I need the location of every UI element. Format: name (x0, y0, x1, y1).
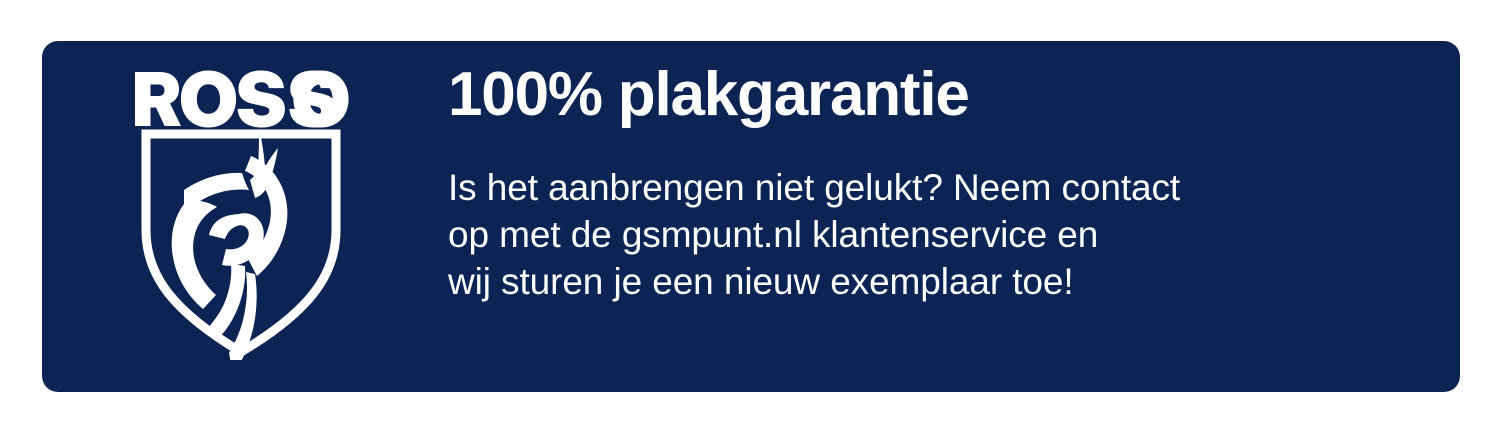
rosso-wordmark-icon (133, 70, 349, 128)
banner-stage: 100% plakgarantie Is het aanbrengen niet… (0, 0, 1500, 433)
body-copy-line: op met de gsmpunt.nl klantenservice en (448, 211, 1408, 258)
body-copy-line: wij sturen je een nieuw exemplaar toe! (448, 258, 1408, 305)
plakgarantie-promo-card: 100% plakgarantie Is het aanbrengen niet… (42, 41, 1460, 392)
promo-copy-block: 100% plakgarantie Is het aanbrengen niet… (448, 62, 1408, 305)
promo-body-copy: Is het aanbrengen niet gelukt? Neem cont… (448, 128, 1408, 305)
rosso-brand-lockup (133, 70, 349, 360)
promo-headline: 100% plakgarantie (448, 62, 1408, 128)
body-copy-line: Is het aanbrengen niet gelukt? Neem cont… (448, 164, 1408, 211)
shield-horse-head-icon (133, 126, 349, 360)
